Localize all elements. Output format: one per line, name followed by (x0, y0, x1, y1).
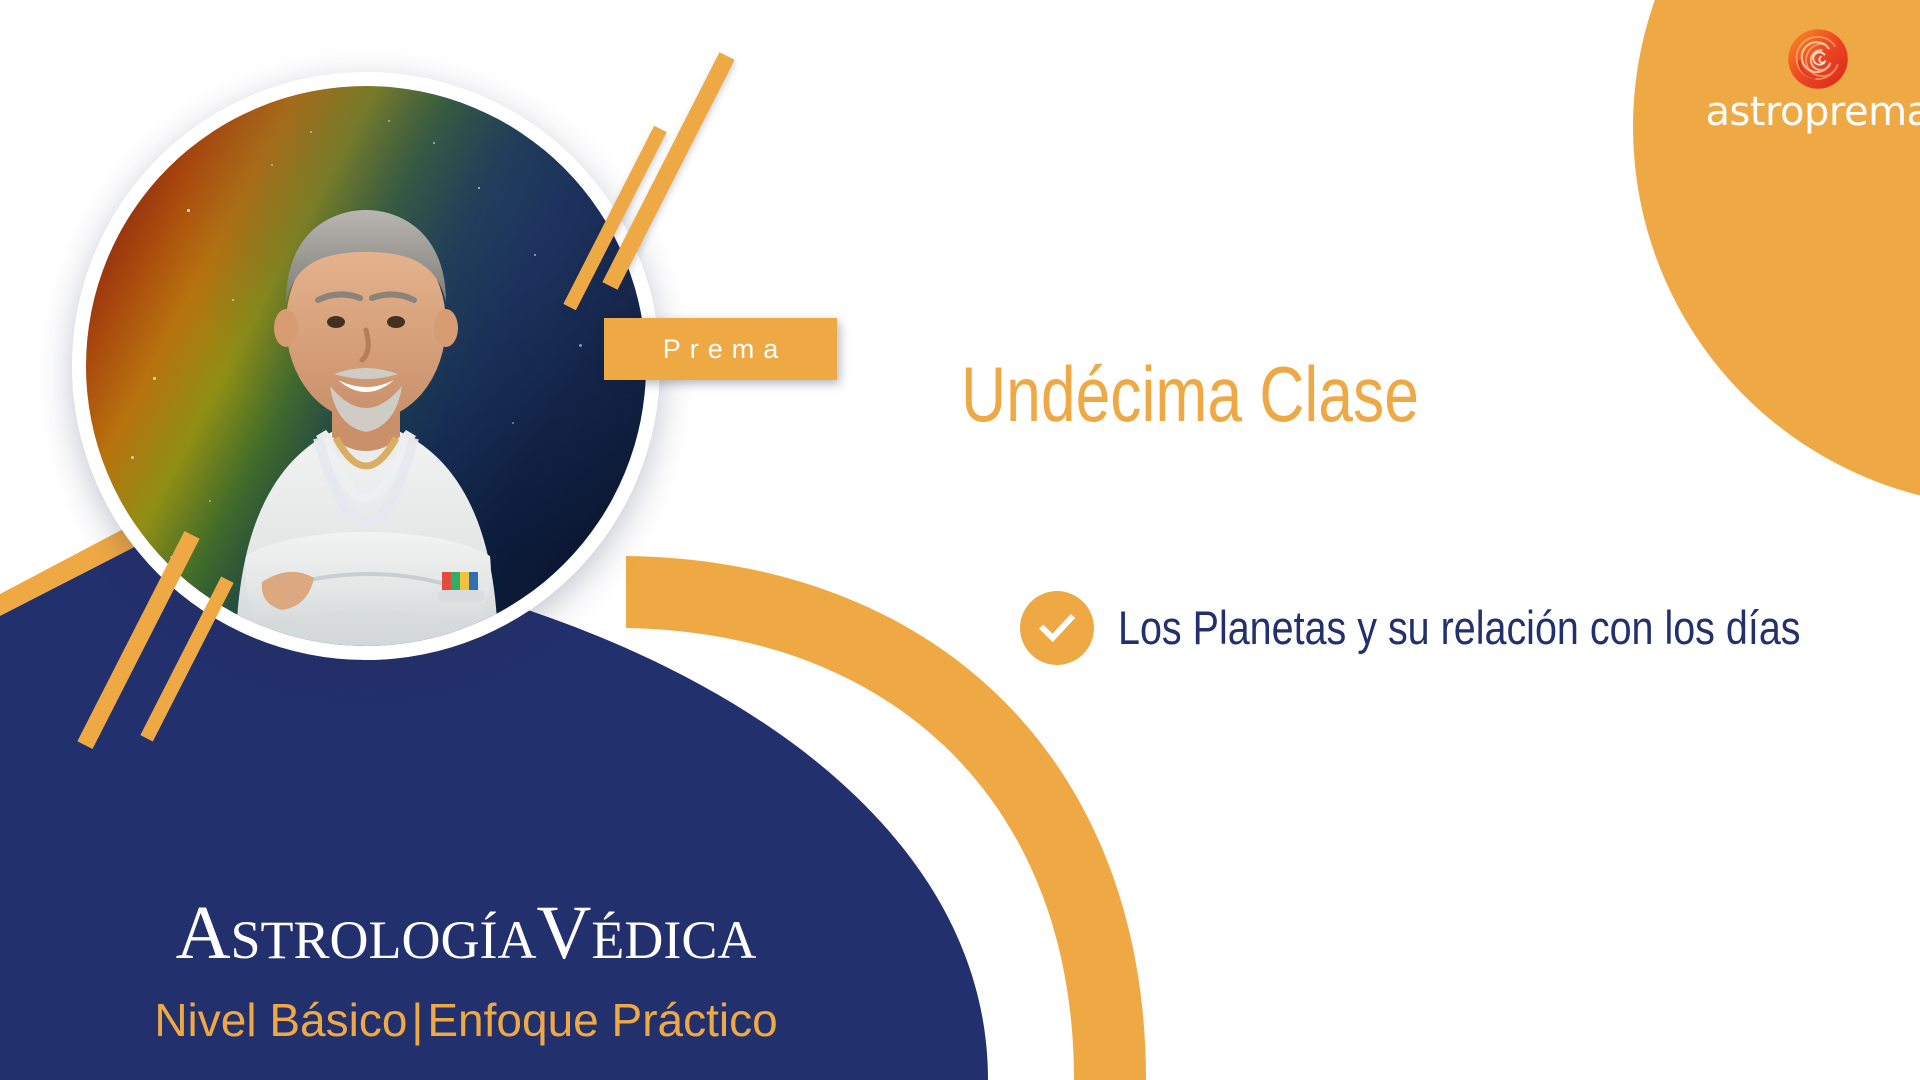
bullet-label: Los Planetas y su relación con los días (1118, 603, 1801, 652)
page-title: Undécima Clase (961, 355, 1419, 433)
bullet-item: Los Planetas y su relación con los días (1020, 591, 1920, 665)
prema-badge-label: Prema (654, 334, 788, 365)
spiral-swirl-icon (1787, 28, 1849, 90)
slide-canvas: astroprema (0, 0, 1920, 1080)
presenter-portrait (72, 72, 660, 660)
check-circle-icon (1020, 591, 1094, 665)
brand-logo[interactable]: astroprema (1718, 28, 1918, 132)
course-level-label: Nivel Básico (154, 994, 407, 1046)
course-subtitle: Nivel Básico|Enfoque Práctico (154, 997, 777, 1043)
brand-wordmark: astroprema (1705, 92, 1920, 132)
course-approach-label: Enfoque Práctico (427, 994, 777, 1046)
course-title-cap-2: V (537, 891, 592, 975)
course-title-cap-1: A (176, 891, 231, 975)
course-title-rest-2: ÉDICA (591, 910, 756, 970)
course-title: ASTROLOGÍAVÉDICA (176, 895, 757, 971)
subtitle-separator: | (407, 994, 427, 1046)
course-title-rest-1: STROLOGÍA (231, 910, 537, 970)
prema-badge: Prema (604, 318, 837, 380)
